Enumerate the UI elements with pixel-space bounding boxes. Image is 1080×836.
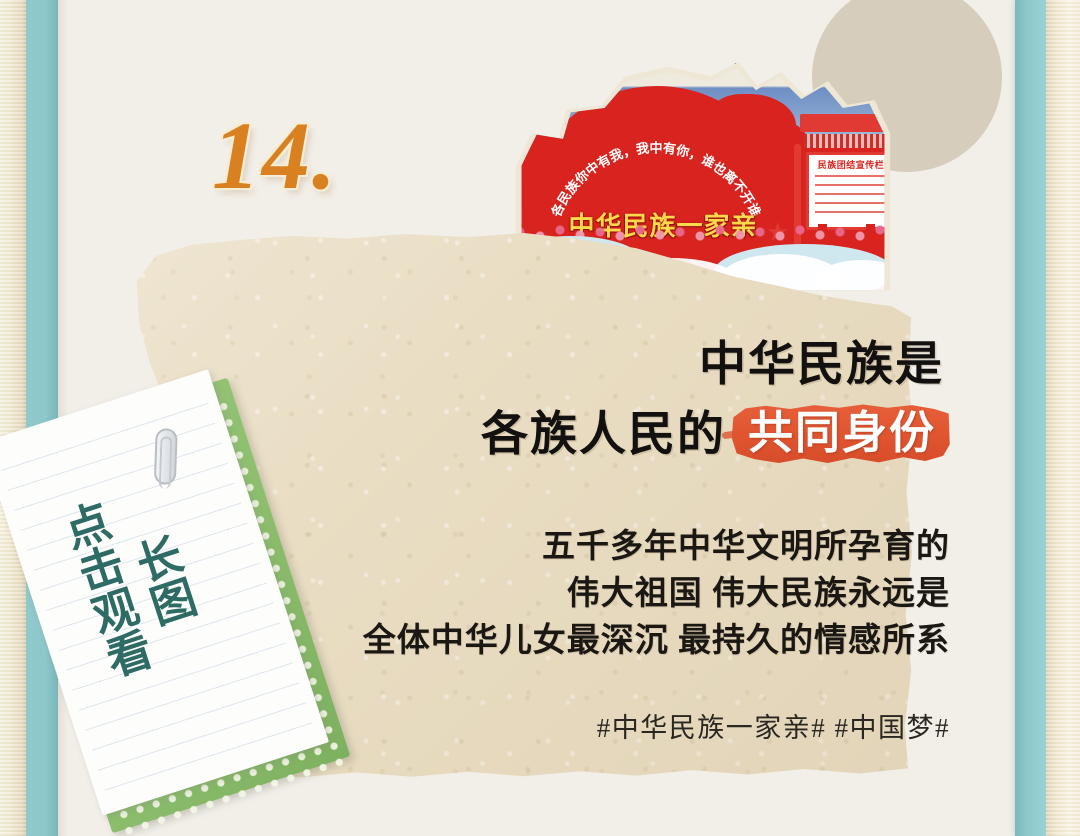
poster-canvas: 14. 各民族你中有我，我中有你，谁也离不开谁 (0, 0, 1080, 836)
billboard-label: 民族团结宣传栏 (809, 158, 892, 171)
left-cream-edge (0, 0, 26, 836)
headline-highlight-text: 共同身份 (748, 407, 936, 458)
headline-line-2-plain: 各族人民的 (481, 410, 726, 458)
paperclip-icon (154, 428, 178, 485)
billboard-pattern-strip (804, 134, 892, 148)
body-line-1: 五千多年中华文明所孕育的 (290, 524, 950, 571)
hashtag-line[interactable]: #中华民族一家亲# #中国梦# (300, 706, 950, 745)
paperclip-inner-loop (159, 436, 173, 488)
right-cream-edge (1046, 0, 1080, 836)
headline-highlight-brush: 共同身份 (730, 402, 952, 466)
right-teal-bar (1015, 0, 1046, 836)
billboard-text-lines (815, 175, 887, 219)
body-line-2: 伟大祖国 伟大民族永远是 (290, 571, 950, 618)
left-teal-bar (26, 0, 58, 836)
headline-line-1: 中华民族是 (380, 340, 952, 388)
headline-block: 中华民族是 各族人民的 共同身份 (380, 340, 952, 466)
page-index-number: 14. (212, 108, 338, 204)
headline-line-2: 各族人民的 共同身份 (380, 402, 952, 466)
body-line-3: 全体中华儿女最深沉 最持久的情感所系 (290, 618, 950, 665)
body-copy: 五千多年中华文明所孕育的 伟大祖国 伟大民族永远是 全体中华儿女最深沉 最持久的… (290, 524, 950, 665)
